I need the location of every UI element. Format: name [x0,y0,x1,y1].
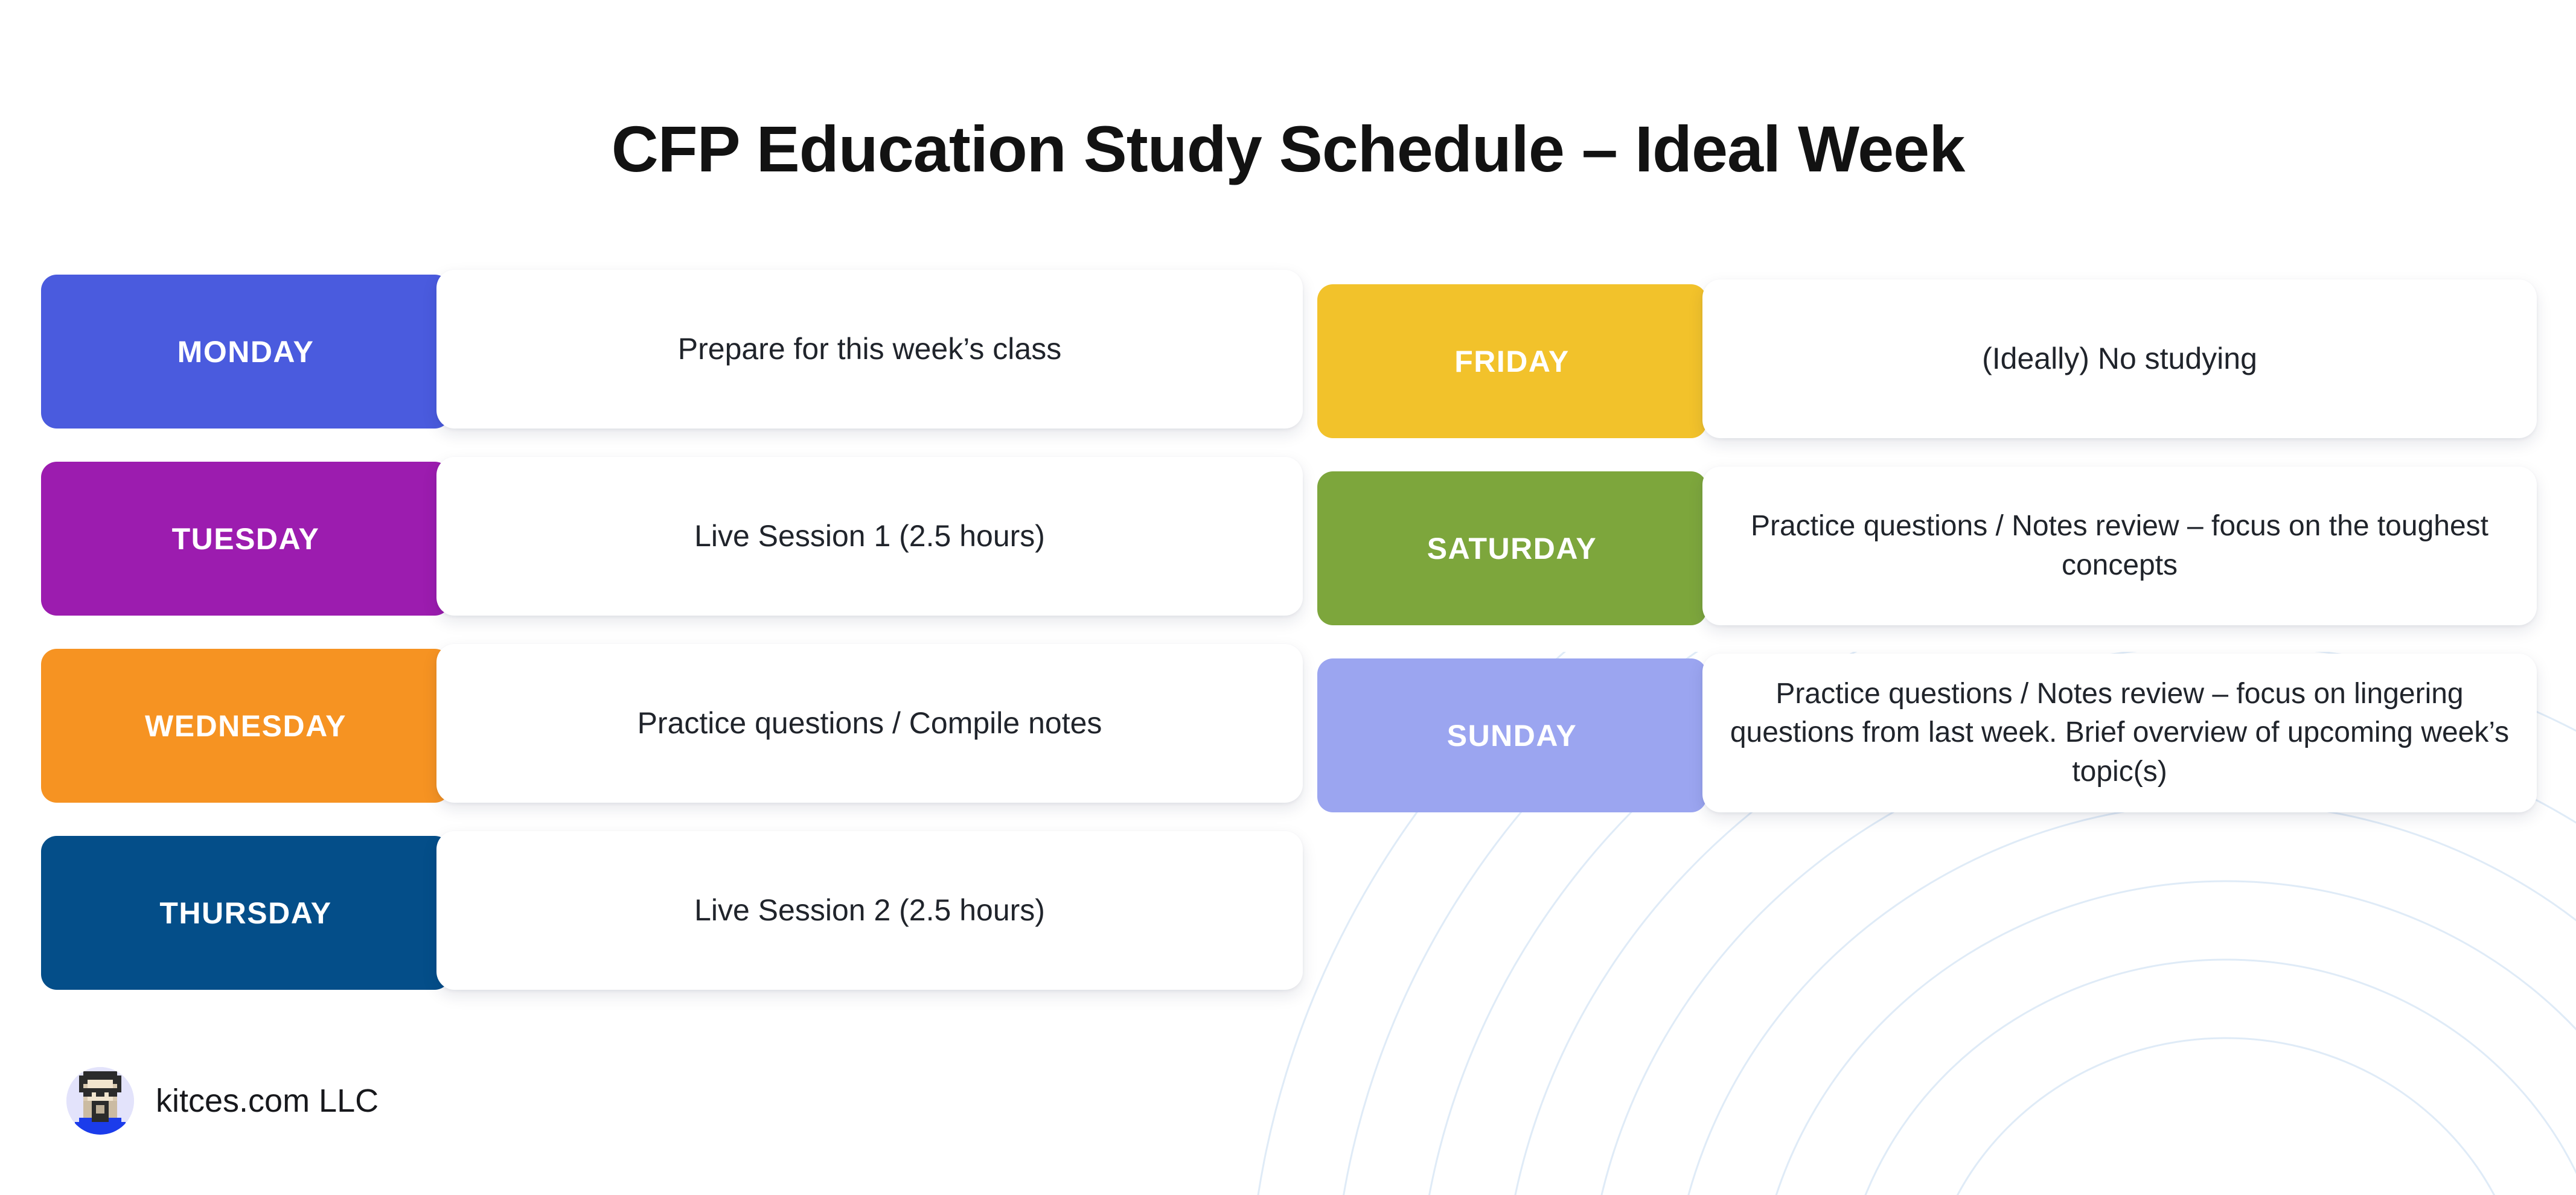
schedule-column-left: MONDAY Prepare for this week’s class TUE… [41,275,1303,1023]
day-tab-sunday[interactable]: SUNDAY [1317,658,1707,812]
day-label-sunday: SUNDAY [1447,721,1577,751]
task-card-wednesday[interactable]: Practice questions / Compile notes [436,644,1303,803]
day-label-friday: FRIDAY [1454,346,1570,377]
task-text-sunday: Practice questions / Notes review – focu… [1727,675,2513,791]
task-text-saturday: Practice questions / Notes review – focu… [1727,507,2513,585]
schedule-row-saturday[interactable]: SATURDAY Practice questions / Notes revi… [1317,471,2537,625]
task-text-thursday: Live Session 2 (2.5 hours) [694,890,1045,931]
pixel-avatar-icon [66,1067,134,1135]
task-card-tuesday[interactable]: Live Session 1 (2.5 hours) [436,457,1303,616]
schedule-row-sunday[interactable]: SUNDAY Practice questions / Notes review… [1317,658,2537,812]
task-text-tuesday: Live Session 1 (2.5 hours) [694,516,1045,556]
schedule-row-wednesday[interactable]: WEDNESDAY Practice questions / Compile n… [41,649,1303,803]
day-label-wednesday: WEDNESDAY [145,711,347,741]
page-title: CFP Education Study Schedule – Ideal Wee… [0,111,2576,186]
task-card-sunday[interactable]: Practice questions / Notes review – focu… [1702,654,2537,812]
day-label-saturday: SATURDAY [1427,534,1597,564]
schedule-row-thursday[interactable]: THURSDAY Live Session 2 (2.5 hours) [41,836,1303,990]
day-label-monday: MONDAY [177,337,315,367]
schedule-row-tuesday[interactable]: TUESDAY Live Session 1 (2.5 hours) [41,462,1303,616]
task-text-friday: (Ideally) No studying [1982,339,2257,379]
schedule-grid: MONDAY Prepare for this week’s class TUE… [0,275,2576,999]
footer-brand: kitces.com LLC [66,1067,379,1135]
task-text-wednesday: Practice questions / Compile notes [638,703,1102,744]
task-card-friday[interactable]: (Ideally) No studying [1702,279,2537,438]
day-tab-saturday[interactable]: SATURDAY [1317,471,1707,625]
day-tab-tuesday[interactable]: TUESDAY [41,462,450,616]
task-card-thursday[interactable]: Live Session 2 (2.5 hours) [436,831,1303,990]
task-card-monday[interactable]: Prepare for this week’s class [436,270,1303,429]
schedule-row-monday[interactable]: MONDAY Prepare for this week’s class [41,275,1303,429]
day-label-thursday: THURSDAY [159,898,331,928]
day-tab-thursday[interactable]: THURSDAY [41,836,450,990]
day-label-tuesday: TUESDAY [172,524,320,554]
day-tab-friday[interactable]: FRIDAY [1317,284,1707,438]
brand-name: kitces.com LLC [156,1082,379,1120]
schedule-column-right: FRIDAY (Ideally) No studying SATURDAY Pr… [1317,275,2537,846]
day-tab-wednesday[interactable]: WEDNESDAY [41,649,450,803]
task-text-monday: Prepare for this week’s class [678,329,1061,369]
schedule-row-friday[interactable]: FRIDAY (Ideally) No studying [1317,284,2537,438]
task-card-saturday[interactable]: Practice questions / Notes review – focu… [1702,467,2537,625]
day-tab-monday[interactable]: MONDAY [41,275,450,429]
